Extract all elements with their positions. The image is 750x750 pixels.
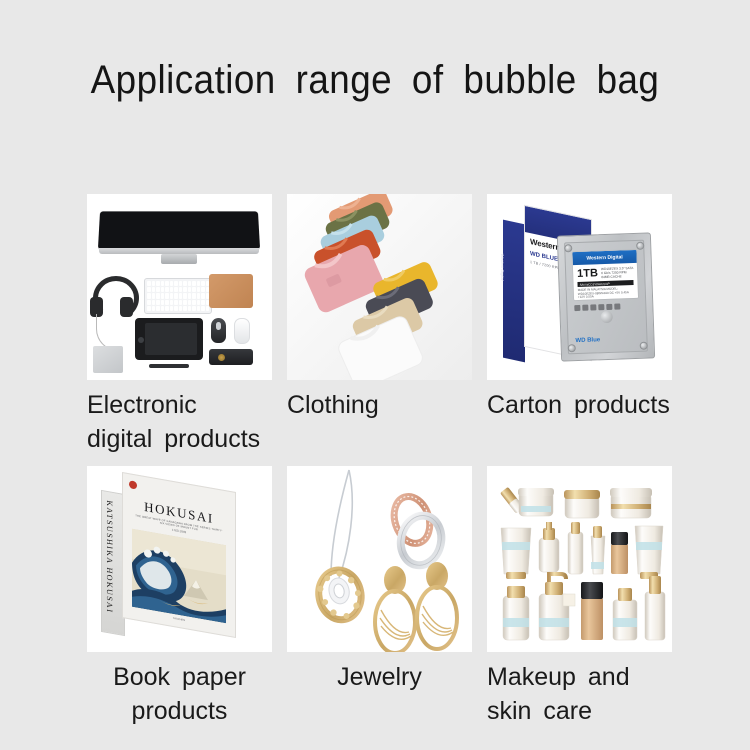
keyboard-icon	[144, 278, 212, 314]
page-title: Application range of bubble bag	[30, 58, 720, 103]
category-image-book: KATSUSHIKA HOKUSAI HOKUSAI THE GREAT WAV…	[87, 466, 272, 652]
category-cell-book-paper-products[interactable]: KATSUSHIKA HOKUSAI HOKUSAI THE GREAT WAV…	[87, 466, 272, 728]
cosmetic-wide-jar-icon	[610, 488, 652, 518]
category-row-2: KATSUSHIKA HOKUSAI HOKUSAI THE GREAT WAV…	[87, 466, 687, 728]
category-image-carton: Western Digital Western Digital WD BLUE …	[487, 194, 672, 380]
category-image-clothing	[287, 194, 472, 380]
graphics-tablet-surface-icon	[145, 323, 197, 355]
product-category-grid: Electronic digital products	[87, 194, 687, 728]
mouse-dark-icon	[211, 318, 226, 343]
cosmetic-foundation-tall-icon	[581, 582, 603, 640]
category-caption-makeup: Makeup and skin care	[487, 652, 672, 728]
pencil-case-icon	[209, 349, 253, 365]
category-caption-clothing: Clothing	[287, 380, 472, 422]
monitor-screen-icon	[98, 211, 260, 249]
hdd-barcode: S/N WCC6Y0HK2LNP	[577, 280, 633, 287]
category-cell-electronic-digital-products[interactable]: Electronic digital products	[87, 194, 272, 456]
hdd-capacity-text: 1TB	[577, 267, 598, 280]
jewelry-scene	[287, 466, 472, 652]
category-cell-jewelry[interactable]: Jewelry	[287, 466, 472, 728]
monitor-stand-icon	[161, 254, 197, 264]
category-caption-electronics: Electronic digital products	[87, 380, 272, 456]
category-image-cosmetics	[487, 466, 672, 652]
category-image-jewelry	[287, 466, 472, 652]
external-drive-icon	[93, 346, 123, 373]
cosmetics-scene	[487, 466, 672, 652]
electronics-flatlay-scene	[87, 194, 272, 380]
cosmetic-squeeze-tube-left-icon	[501, 528, 531, 579]
hdd-spec-text: WD10EZEX 3.5" SATA 6 Gb/s 7200 RPM 64MB …	[601, 266, 634, 279]
leather-mousepad-icon	[209, 274, 253, 308]
hdd-wd-blue-logo: WD Blue	[575, 337, 600, 344]
great-wave-artwork	[132, 529, 226, 624]
stylus-icon	[149, 364, 189, 368]
folded-tshirts-scene	[287, 194, 472, 380]
category-cell-clothing[interactable]: Clothing	[287, 194, 472, 456]
category-cell-carton-products[interactable]: Western Digital Western Digital WD BLUE …	[487, 194, 672, 456]
wd-box-side-panel: Western Digital	[503, 220, 525, 363]
hard-disk-drive: Western Digital 1TB WD10EZEX 3.5" SATA 6…	[557, 232, 655, 361]
cosmetic-cream-jar-icon	[518, 488, 554, 516]
category-caption-carton: Carton products	[487, 380, 672, 422]
art-book-scene: KATSUSHIKA HOKUSAI HOKUSAI THE GREAT WAV…	[87, 466, 272, 652]
category-cell-makeup-and-skin-care[interactable]: Makeup and skin care	[487, 466, 672, 728]
book-cover: HOKUSAI THE GREAT WAVE OF KANAGAWA FROM …	[122, 472, 236, 638]
category-caption-jewelry: Jewelry	[287, 652, 472, 694]
hdd-fine-print: MADE IN MALAYSIA MODEL: WD10EZEX-08WN4A0…	[578, 287, 634, 300]
rising-sun-icon	[129, 480, 137, 489]
category-row-1: Electronic digital products	[87, 194, 687, 456]
cosmetic-squeeze-tube-right-icon	[635, 526, 663, 579]
hard-drive-scene: Western Digital Western Digital WD BLUE …	[487, 194, 672, 380]
cosmetic-foundation-bottle-icon	[611, 532, 628, 574]
category-caption-book: Book paper products	[87, 652, 272, 728]
wd-box-side-text: Western Digital	[500, 253, 505, 281]
mouse-white-icon	[234, 318, 250, 344]
hdd-brand-text: Western Digital	[572, 250, 636, 265]
category-image-electronics	[87, 194, 272, 380]
hdd-label: Western Digital 1TB WD10EZEX 3.5" SATA 6…	[572, 250, 638, 300]
book-spine-text: KATSUSHIKA HOKUSAI	[105, 500, 114, 615]
graphics-tablet-button-icon	[138, 337, 144, 343]
cosmetic-gold-lid-jar-icon	[564, 490, 600, 518]
